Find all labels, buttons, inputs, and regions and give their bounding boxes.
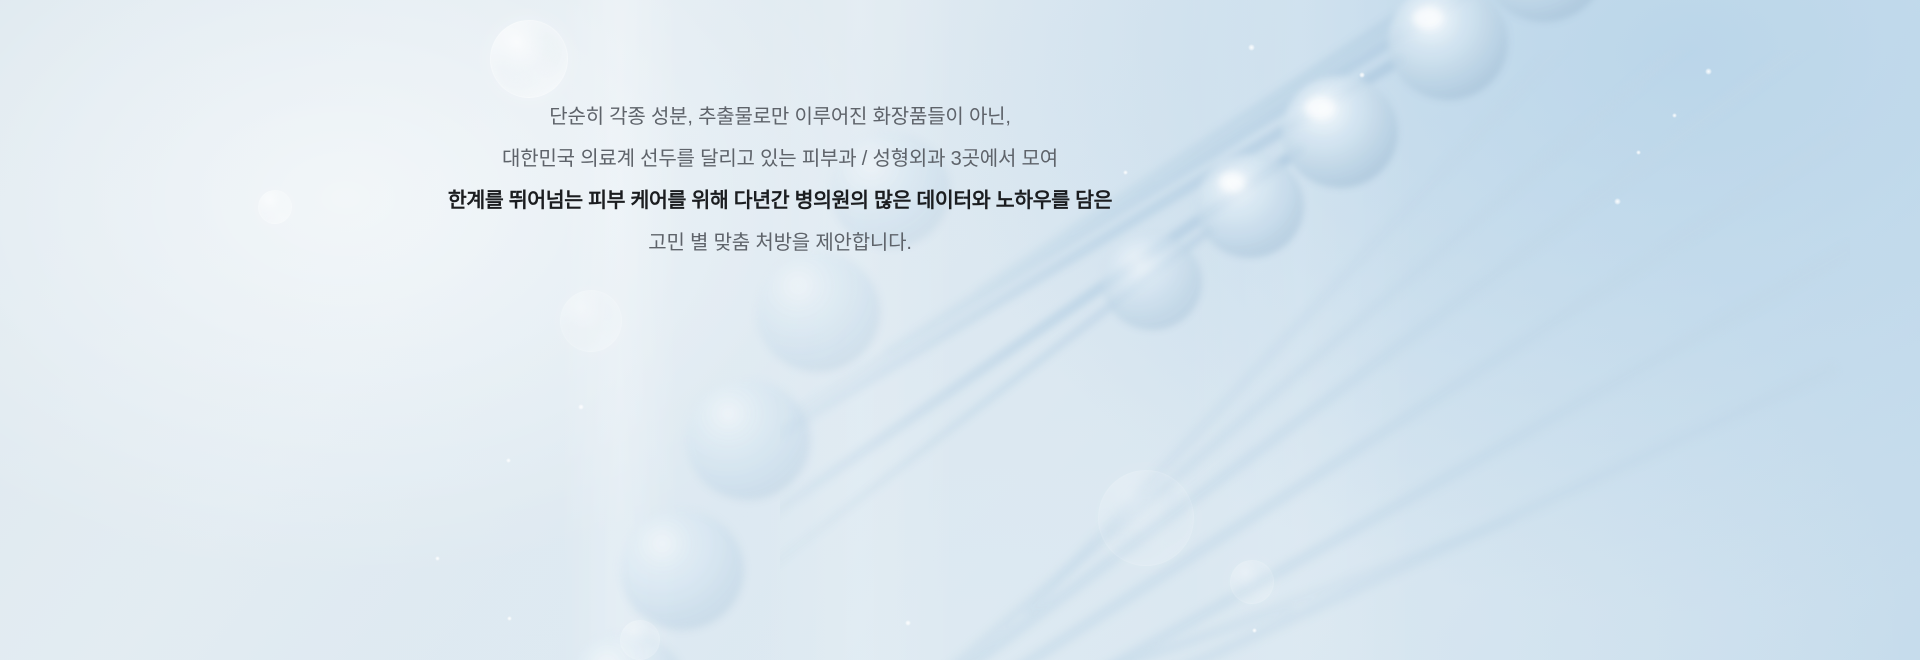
- sparkle: [1672, 113, 1677, 118]
- intro-banner: 단순히 각종 성분, 추출물로만 이루어진 화장품들이 아닌, 대한민국 의료계…: [0, 0, 1920, 660]
- bubble-small: [1230, 560, 1274, 604]
- sparkle: [507, 616, 512, 621]
- sparkle: [578, 404, 584, 410]
- bubble-medium: [560, 290, 622, 352]
- bubble-medium: [1098, 470, 1194, 566]
- sparkle: [1248, 44, 1255, 51]
- intro-copy-line-4: 고민 별 맞춤 처방을 제안합니다.: [0, 222, 1560, 264]
- intro-copy-line-1: 단순히 각종 성분, 추출물로만 이루어진 화장품들이 아닌,: [0, 96, 1560, 138]
- sparkle: [1636, 150, 1641, 155]
- sparkle: [905, 620, 911, 626]
- bubble-small: [620, 620, 660, 660]
- sparkle: [1252, 628, 1257, 633]
- sparkle: [1359, 72, 1365, 78]
- intro-copy-line-3-emphasis: 한계를 뛰어넘는 피부 케어를 위해 다년간 병의원의 많은 데이터와 노하우를…: [0, 180, 1560, 222]
- intro-copy-line-2: 대한민국 의료계 선두를 달리고 있는 피부과 / 성형외과 3곳에서 모여: [0, 138, 1560, 180]
- sparkle: [506, 458, 511, 463]
- dna-strand-cluster-upper-right: [780, 0, 1920, 610]
- bubble-large: [490, 20, 568, 98]
- sparkle: [1614, 198, 1621, 205]
- sparkle: [435, 556, 440, 561]
- sparkle: [1705, 68, 1712, 75]
- intro-copy-block: 단순히 각종 성분, 추출물로만 이루어진 화장품들이 아닌, 대한민국 의료계…: [0, 96, 1560, 264]
